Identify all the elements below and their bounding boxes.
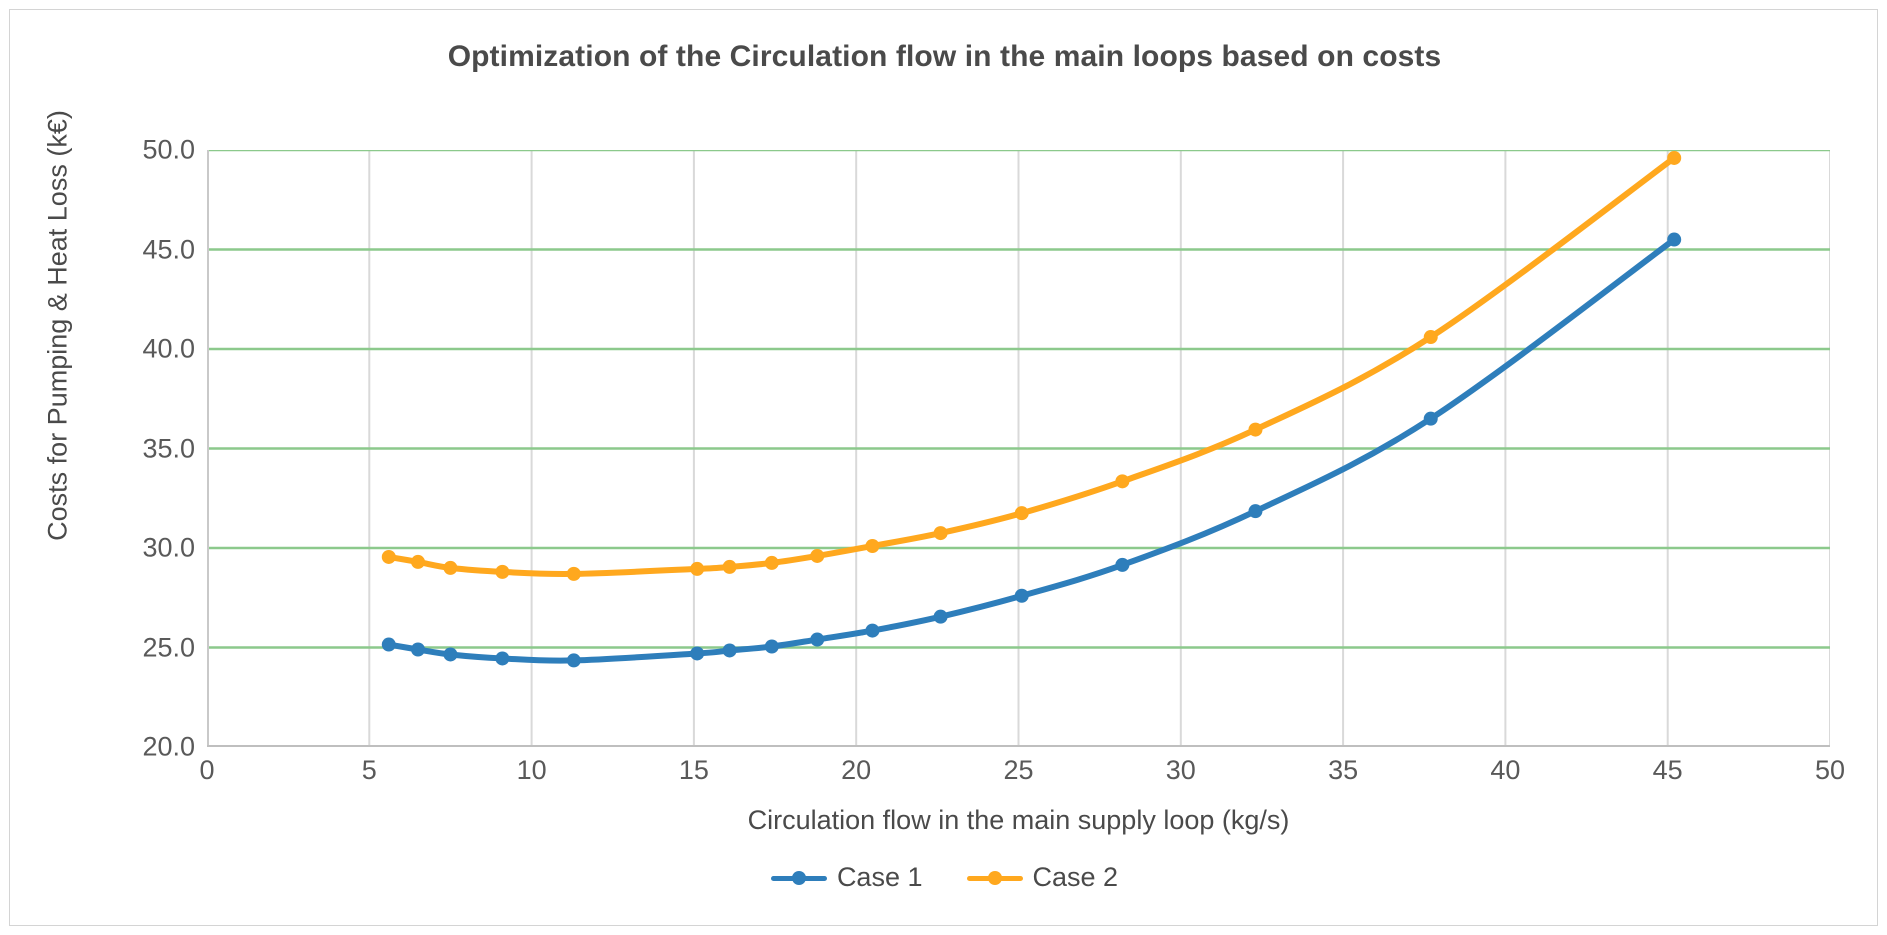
data-point-marker [723,560,737,574]
y-axis-line [207,150,209,747]
data-point-marker [765,556,779,570]
data-point-marker [690,646,704,660]
x-tick-label: 35 [1328,755,1358,786]
data-point-marker [1424,330,1438,344]
data-point-marker [1667,151,1681,165]
legend-marker-icon [771,869,827,887]
plot-svg [207,150,1830,747]
data-point-marker [1248,423,1262,437]
y-tick-label: 40.0 [142,334,195,365]
data-point-marker [810,633,824,647]
data-point-marker [411,555,425,569]
data-point-marker [1115,558,1129,572]
data-point-marker [1015,506,1029,520]
x-tick-label: 15 [679,755,709,786]
data-point-marker [495,565,509,579]
y-tick-label: 35.0 [142,433,195,464]
data-point-marker [723,643,737,657]
data-point-marker [765,640,779,654]
x-tick-label: 0 [199,755,214,786]
x-tick-label: 50 [1815,755,1845,786]
legend-entry-2[interactable]: Case 2 [967,862,1119,893]
x-tick-label: 40 [1490,755,1520,786]
x-axis-title: Circulation flow in the main supply loop… [207,805,1830,836]
data-point-marker [690,562,704,576]
data-point-marker [411,642,425,656]
chart-plate: Optimization of the Circulation flow in … [9,9,1878,926]
data-point-marker [567,567,581,581]
data-point-marker [443,647,457,661]
data-point-marker [1015,589,1029,603]
x-tick-label: 45 [1653,755,1683,786]
y-axis-title: Costs for Pumping & Heat Loss (k€) [43,26,74,626]
chart-screenshot: Optimization of the Circulation flow in … [0,0,1887,935]
x-tick-label: 10 [517,755,547,786]
data-point-marker [382,550,396,564]
x-tick-label: 25 [1003,755,1033,786]
data-point-marker [865,624,879,638]
data-point-marker [495,651,509,665]
chart-legend: Case 1Case 2 [10,862,1879,893]
data-point-marker [443,561,457,575]
plot-area [207,150,1830,747]
data-point-marker [1424,412,1438,426]
chart-title: Optimization of the Circulation flow in … [10,40,1879,74]
series-line [389,158,1674,574]
y-axis-tick-labels: 20.025.030.035.040.045.050.0 [70,150,195,747]
series-2 [382,151,1681,581]
legend-label: Case 2 [1033,862,1119,893]
legend-entry-1[interactable]: Case 1 [771,862,923,893]
x-axis-line [207,745,1830,747]
y-tick-label: 45.0 [142,234,195,265]
x-tick-label: 20 [841,755,871,786]
data-point-marker [1667,233,1681,247]
data-point-marker [810,549,824,563]
y-tick-label: 25.0 [142,632,195,663]
data-point-marker [934,526,948,540]
data-point-marker [1115,474,1129,488]
legend-marker-icon [967,869,1023,887]
x-axis-tick-labels: 05101520253035404550 [207,755,1830,801]
x-tick-label: 5 [362,755,377,786]
y-tick-label: 20.0 [142,732,195,763]
data-point-marker [1248,504,1262,518]
legend-label: Case 1 [837,862,923,893]
x-tick-label: 30 [1166,755,1196,786]
y-tick-label: 30.0 [142,533,195,564]
data-point-marker [934,610,948,624]
data-point-marker [567,653,581,667]
data-point-marker [865,539,879,553]
data-point-marker [382,638,396,652]
y-tick-label: 50.0 [142,135,195,166]
